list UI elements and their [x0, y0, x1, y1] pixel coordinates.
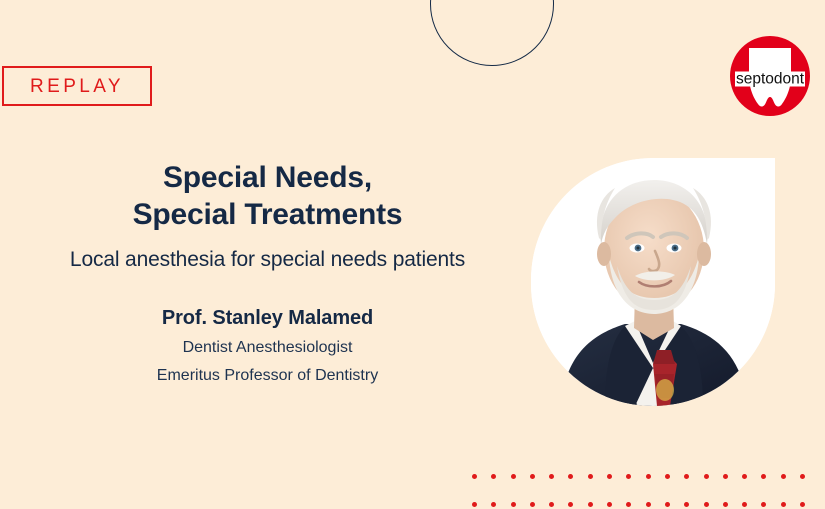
speaker-role-secondary: Emeritus Professor of Dentistry: [0, 368, 535, 384]
grid-dot: [626, 502, 631, 507]
grid-dot: [472, 474, 477, 479]
decorative-dot-grid: [472, 468, 825, 500]
grid-dot: [491, 502, 496, 507]
replay-badge-label: REPLAY: [30, 77, 124, 96]
grid-dot: [723, 502, 728, 507]
replay-badge[interactable]: REPLAY: [2, 66, 152, 106]
speaker-name: Prof. Stanley Malamed: [0, 307, 535, 330]
grid-dot: [646, 474, 651, 479]
dot-grid-row: [472, 468, 825, 484]
dot-grid-row: [472, 496, 825, 509]
grid-dot: [800, 474, 805, 479]
grid-dot: [511, 474, 516, 479]
grid-dot: [588, 502, 593, 507]
grid-dot: [781, 502, 786, 507]
septodont-logo: septodont: [729, 35, 811, 117]
svg-text:septodont: septodont: [736, 70, 805, 87]
grid-dot: [549, 502, 554, 507]
grid-dot: [704, 502, 709, 507]
grid-dot: [704, 474, 709, 479]
grid-dot: [530, 502, 535, 507]
speaker-portrait: [531, 158, 775, 406]
grid-dot: [800, 502, 805, 507]
grid-dot: [607, 474, 612, 479]
grid-dot: [761, 474, 766, 479]
subtitle: Local anesthesia for special needs patie…: [0, 247, 535, 273]
grid-dot: [472, 502, 477, 507]
grid-dot: [607, 502, 612, 507]
title-line-2: Special Treatments: [14, 197, 521, 234]
grid-dot: [549, 474, 554, 479]
grid-dot: [626, 474, 631, 479]
slide-text-block: Special Needs, Special Treatments Local …: [0, 160, 535, 384]
speaker-role-primary: Dentist Anesthesiologist: [0, 340, 535, 356]
grid-dot: [646, 502, 651, 507]
decorative-outline-circle: [430, 0, 554, 66]
grid-dot: [742, 474, 747, 479]
grid-dot: [723, 474, 728, 479]
grid-dot: [568, 502, 573, 507]
page-title: Special Needs, Special Treatments: [0, 160, 535, 233]
grid-dot: [568, 474, 573, 479]
grid-dot: [511, 502, 516, 507]
webinar-replay-slide: REPLAY septodont Special Needs, Special …: [0, 0, 825, 509]
grid-dot: [742, 502, 747, 507]
grid-dot: [530, 474, 535, 479]
grid-dot: [491, 474, 496, 479]
grid-dot: [761, 502, 766, 507]
grid-dot: [665, 502, 670, 507]
grid-dot: [665, 474, 670, 479]
grid-dot: [781, 474, 786, 479]
grid-dot: [684, 502, 689, 507]
grid-dot: [684, 474, 689, 479]
grid-dot: [588, 474, 593, 479]
title-line-1: Special Needs,: [14, 160, 521, 197]
